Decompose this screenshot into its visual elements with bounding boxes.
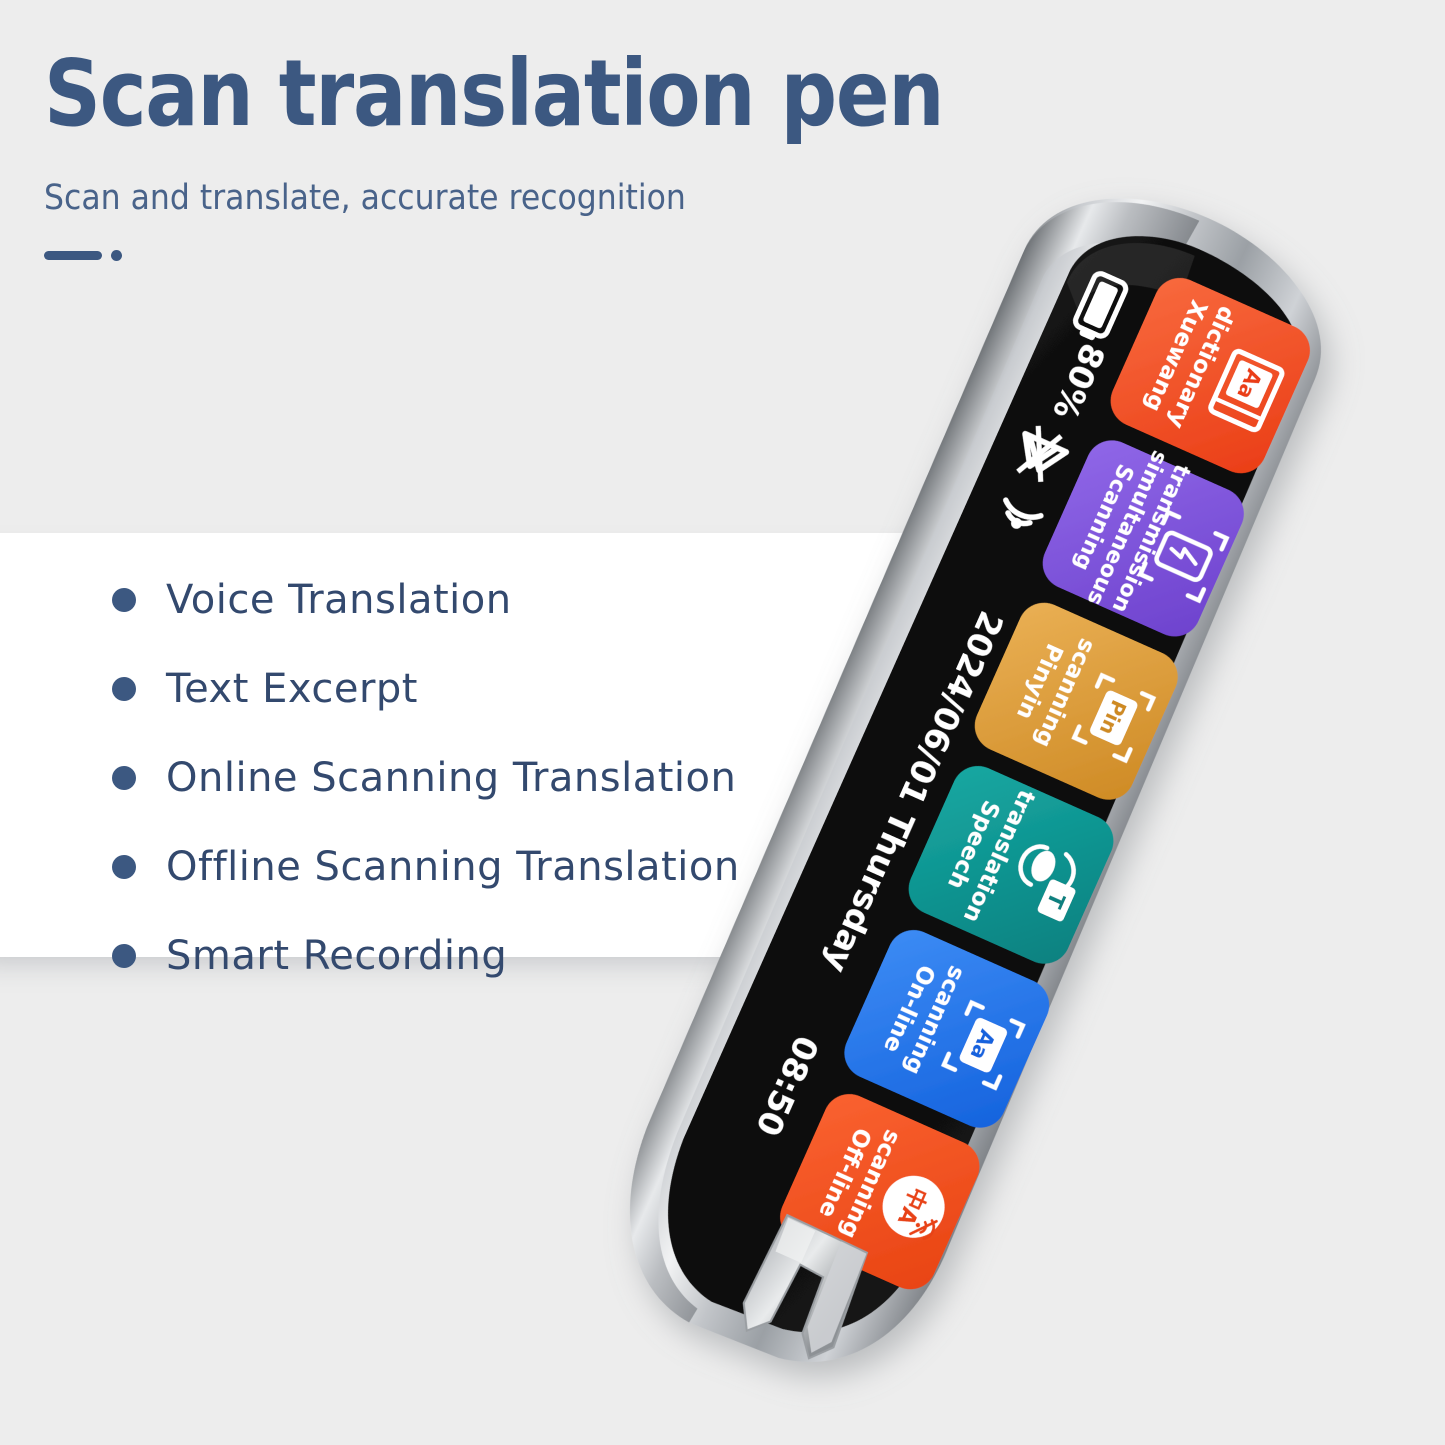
- tile-label-line2: simultaneous: [1081, 447, 1172, 609]
- bullet-icon: [112, 766, 136, 790]
- bullet-icon: [112, 588, 136, 612]
- feature-label: Smart Recording: [166, 933, 507, 979]
- accent-dot: [111, 250, 122, 261]
- accent-rule: [44, 218, 1044, 261]
- header: Scan translation pen Scan and translate,…: [44, 48, 1044, 261]
- list-item: Voice Translation: [112, 563, 1015, 637]
- page-subtitle: Scan and translate, accurate recognition: [44, 140, 944, 218]
- app-tile-scanning-simultaneous-transmission[interactable]: Scanning simultaneous transmission: [1034, 425, 1255, 646]
- scanner-tip-head: [734, 1213, 875, 1365]
- status-bar: 80%: [988, 271, 1141, 536]
- list-item: Text Excerpt: [112, 652, 1015, 726]
- list-item: Online Scanning Translation: [112, 741, 1015, 815]
- feature-card: Voice Translation Text Excerpt Online Sc…: [0, 533, 1015, 957]
- scan-transmit-icon: [1140, 512, 1226, 600]
- svg-text:T: T: [1042, 889, 1070, 912]
- feature-label: Offline Scanning Translation: [166, 844, 740, 890]
- offline-scan-icon: 中A: [873, 1166, 955, 1248]
- svg-text:Aa: Aa: [1232, 365, 1266, 403]
- bluetooth-icon: [1010, 422, 1071, 486]
- tile-label-line3: transmission: [1107, 460, 1195, 616]
- screen-gloss: [1059, 213, 1199, 345]
- tile-label-line1: Scanning: [1068, 460, 1137, 574]
- bullet-icon: [112, 677, 136, 701]
- tile-label-line2: scanning: [835, 1126, 906, 1243]
- dictionary-book-icon: Aa: [1209, 350, 1283, 431]
- online-icon-label: Aa: [965, 1026, 999, 1064]
- tile-label-line2: scanning: [1029, 634, 1100, 751]
- tile-label-line2: dictionary: [1162, 302, 1239, 432]
- bullet-icon: [112, 944, 136, 968]
- list-item: Smart Recording: [112, 919, 1015, 993]
- battery-icon: [1070, 271, 1127, 344]
- feature-list: Voice Translation Text Excerpt Online Sc…: [0, 533, 1015, 993]
- app-tile-offline-scanning[interactable]: Off-line scanning 中A: [772, 1086, 988, 1298]
- tile-label-line1: Xuewang: [1139, 296, 1211, 416]
- page-title: Scan translation pen: [44, 48, 904, 140]
- online-scan-icon: Aa: [944, 1003, 1023, 1088]
- speech-translation-icon: T: [1005, 839, 1088, 923]
- feature-label: Online Scanning Translation: [166, 755, 736, 801]
- accent-bar: [44, 251, 102, 260]
- tile-label-line1: Pinyin: [1011, 639, 1067, 723]
- clock-time: 08:50: [748, 1030, 826, 1142]
- offline-icon-label: 中A: [892, 1183, 931, 1229]
- pinyin-icon-label: Pin: [1095, 696, 1131, 738]
- battery-percent-label: 80%: [1045, 338, 1113, 426]
- pinyin-scan-icon: Pin: [1074, 675, 1153, 760]
- tile-label-line1: Off-line: [813, 1124, 876, 1222]
- bullet-icon: [112, 855, 136, 879]
- feature-label: Voice Translation: [166, 577, 512, 623]
- list-item: Offline Scanning Translation: [112, 830, 1015, 904]
- wifi-icon: [997, 500, 1041, 536]
- app-tile-xuewang-dictionary[interactable]: Xuewang dictionary Aa: [1102, 270, 1318, 482]
- feature-label: Text Excerpt: [166, 666, 418, 712]
